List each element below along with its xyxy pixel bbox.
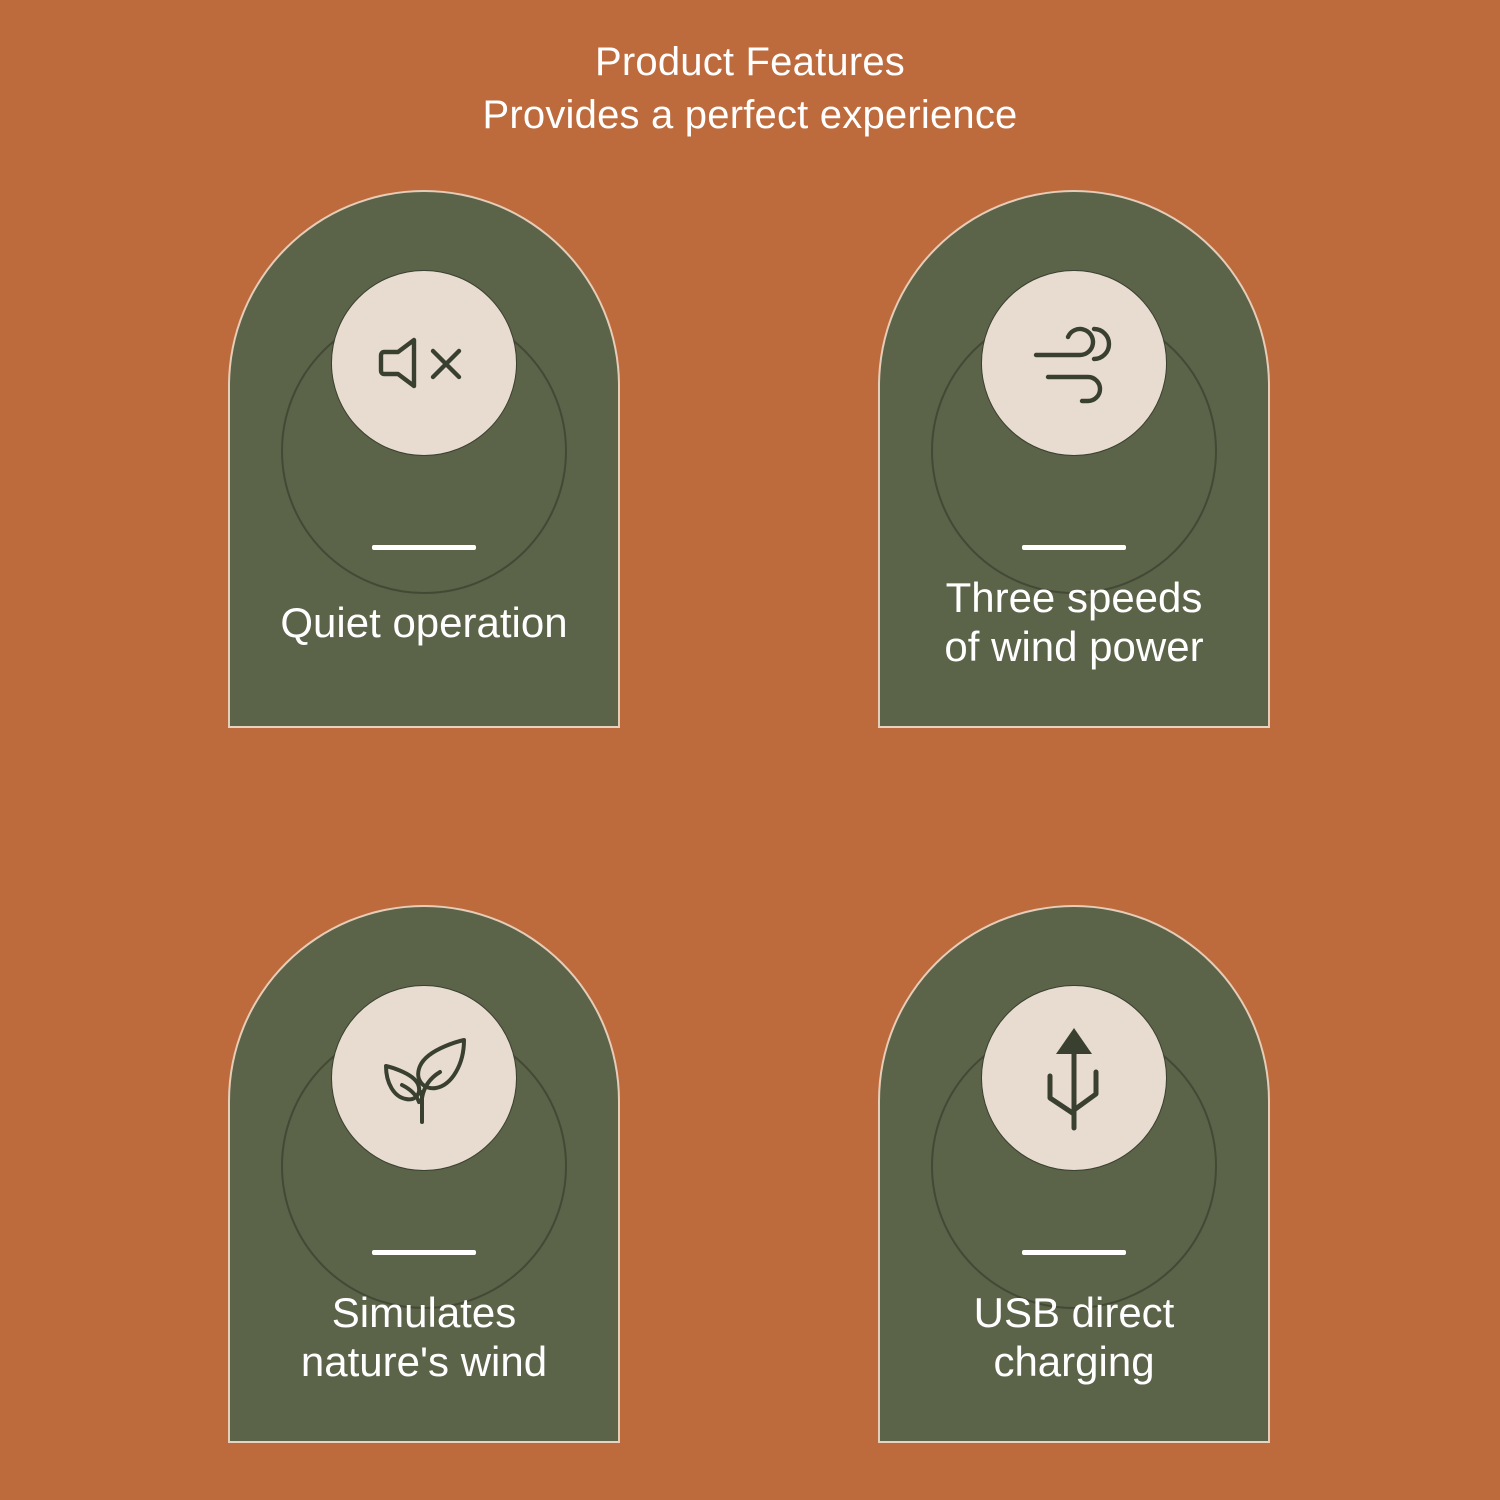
feature-card-grid: Quiet operation Three speeds of wind pow…: [0, 0, 1500, 1500]
feature-label-line1: Simulates: [332, 1289, 516, 1336]
feature-label-line1: USB direct: [974, 1289, 1175, 1336]
feature-label: Simulates nature's wind: [230, 1289, 618, 1386]
feature-label: Three speeds of wind power: [880, 574, 1268, 671]
label-divider: [1022, 545, 1126, 550]
label-divider: [372, 545, 476, 550]
icon-badge: [331, 985, 517, 1171]
feature-card-natural-wind: Simulates nature's wind: [228, 905, 620, 1443]
feature-label-line2: of wind power: [892, 623, 1256, 672]
icon-badge: [981, 270, 1167, 456]
feature-label: USB direct charging: [880, 1289, 1268, 1386]
feature-label-line2: nature's wind: [242, 1338, 606, 1387]
sprout-leaf-icon: [372, 1028, 476, 1128]
feature-card-wind-speeds: Three speeds of wind power: [878, 190, 1270, 728]
speaker-mute-icon: [376, 320, 472, 406]
feature-label: Quiet operation: [230, 599, 618, 648]
feature-label-line2: charging: [892, 1338, 1256, 1387]
icon-badge: [331, 270, 517, 456]
icon-badge: [981, 985, 1167, 1171]
feature-label-line1: Three speeds: [946, 574, 1203, 621]
usb-icon: [1034, 1024, 1114, 1132]
feature-card-usb-charging: USB direct charging: [878, 905, 1270, 1443]
label-divider: [372, 1250, 476, 1255]
feature-card-quiet-operation: Quiet operation: [228, 190, 620, 728]
feature-label-line1: Quiet operation: [280, 599, 567, 646]
label-divider: [1022, 1250, 1126, 1255]
wind-icon: [1024, 317, 1124, 409]
